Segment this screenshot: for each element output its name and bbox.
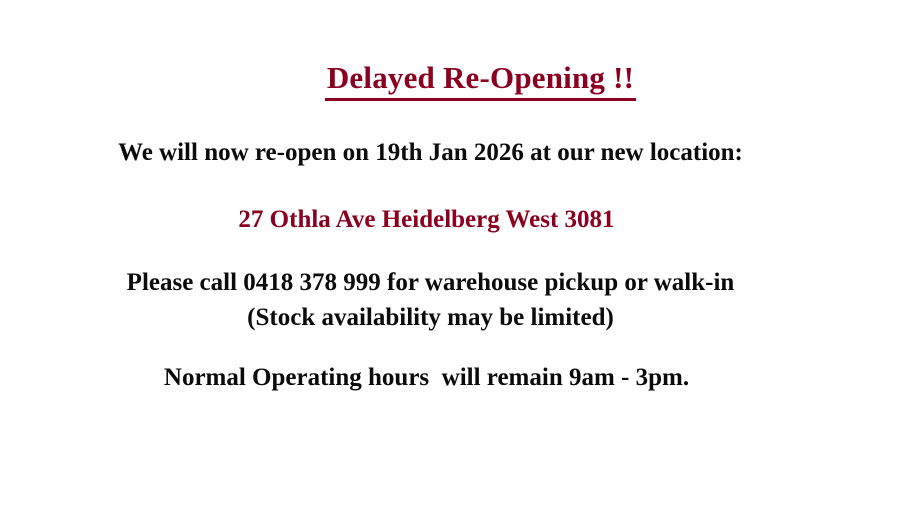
stock-availability-note: (Stock availability may be limited): [0, 303, 885, 333]
operating-hours-line: Normal Operating hours will remain 9am -…: [0, 363, 881, 393]
notice-title-text: Delayed Re-Opening !!: [325, 62, 636, 101]
notice-page: Delayed Re-Opening !! We will now re-ope…: [0, 0, 909, 509]
reopen-announcement-line: We will now re-open on 19th Jan 2026 at …: [0, 138, 885, 168]
phone-contact-line: Please call 0418 378 999 for warehouse p…: [0, 268, 885, 298]
notice-title: Delayed Re-Opening !!: [0, 62, 909, 101]
new-address-line: 27 Othla Ave Heidelberg West 3081: [0, 205, 881, 235]
